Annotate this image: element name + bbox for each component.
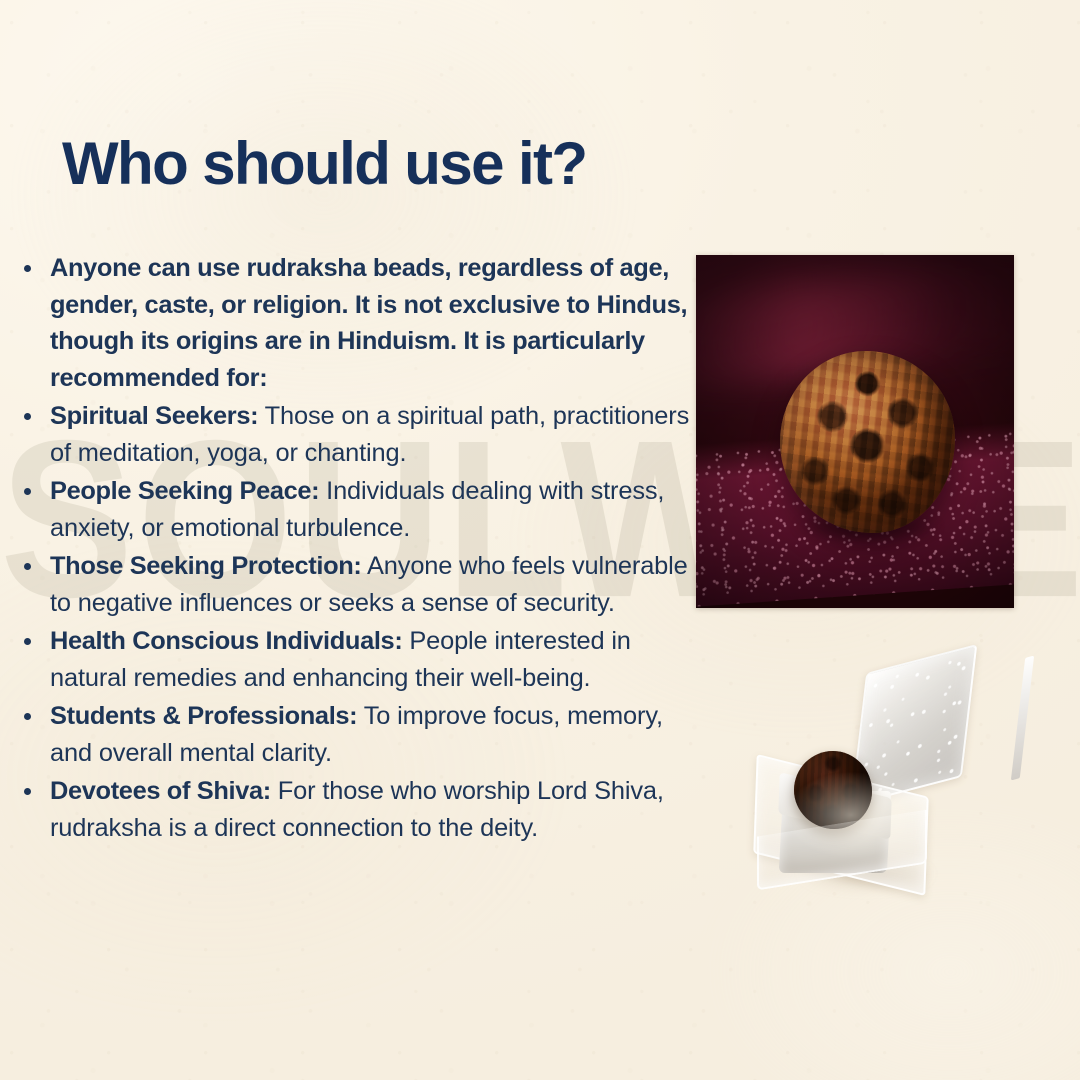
bullet-list: Anyone can use rudraksha beads, regardle… [16,250,702,848]
list-item: Devotees of Shiva: For those who worship… [16,773,702,846]
poster-canvas: SOULWISE Who should use it? Anyone can u… [0,0,1080,1080]
bullet-dot-icon [24,488,31,495]
rudraksha-bead-small [794,751,872,829]
list-item-lead: Students & Professionals: [50,702,357,730]
list-item-lead: Devotees of Shiva: [50,777,271,805]
bullet-dot-icon [24,563,31,570]
list-item-lead: People Seeking Peace: [50,477,319,505]
acrylic-box-lid-edge [1011,656,1034,781]
list-item: Anyone can use rudraksha beads, regardle… [16,250,702,396]
page-title: Who should use it? [62,132,586,196]
bullet-dot-icon [24,265,31,272]
list-item: Those Seeking Protection: Anyone who fee… [16,548,702,621]
list-item-lead: Those Seeking Protection: [50,552,362,580]
list-item-lead: Health Conscious Individuals: [50,627,402,655]
bullet-dot-icon [24,413,31,420]
rudraksha-bead-on-maroon-velvet-photo [696,255,1014,608]
list-item: Students & Professionals: To improve foc… [16,698,702,771]
bullet-dot-icon [24,638,31,645]
list-item: People Seeking Peace: Individuals dealin… [16,473,702,546]
bullet-dot-icon [24,788,31,795]
photo-vignette [696,255,1014,608]
rudraksha-bead-in-clear-box-photo [745,655,1020,925]
list-item-lead: Spiritual Seekers: [50,402,258,430]
lid-sparkle-texture [853,647,975,804]
list-item-text: Anyone can use rudraksha beads, regardle… [50,254,687,392]
list-item: Spiritual Seekers: Those on a spiritual … [16,398,702,471]
list-item: Health Conscious Individuals: People int… [16,623,702,696]
bullet-dot-icon [24,713,31,720]
